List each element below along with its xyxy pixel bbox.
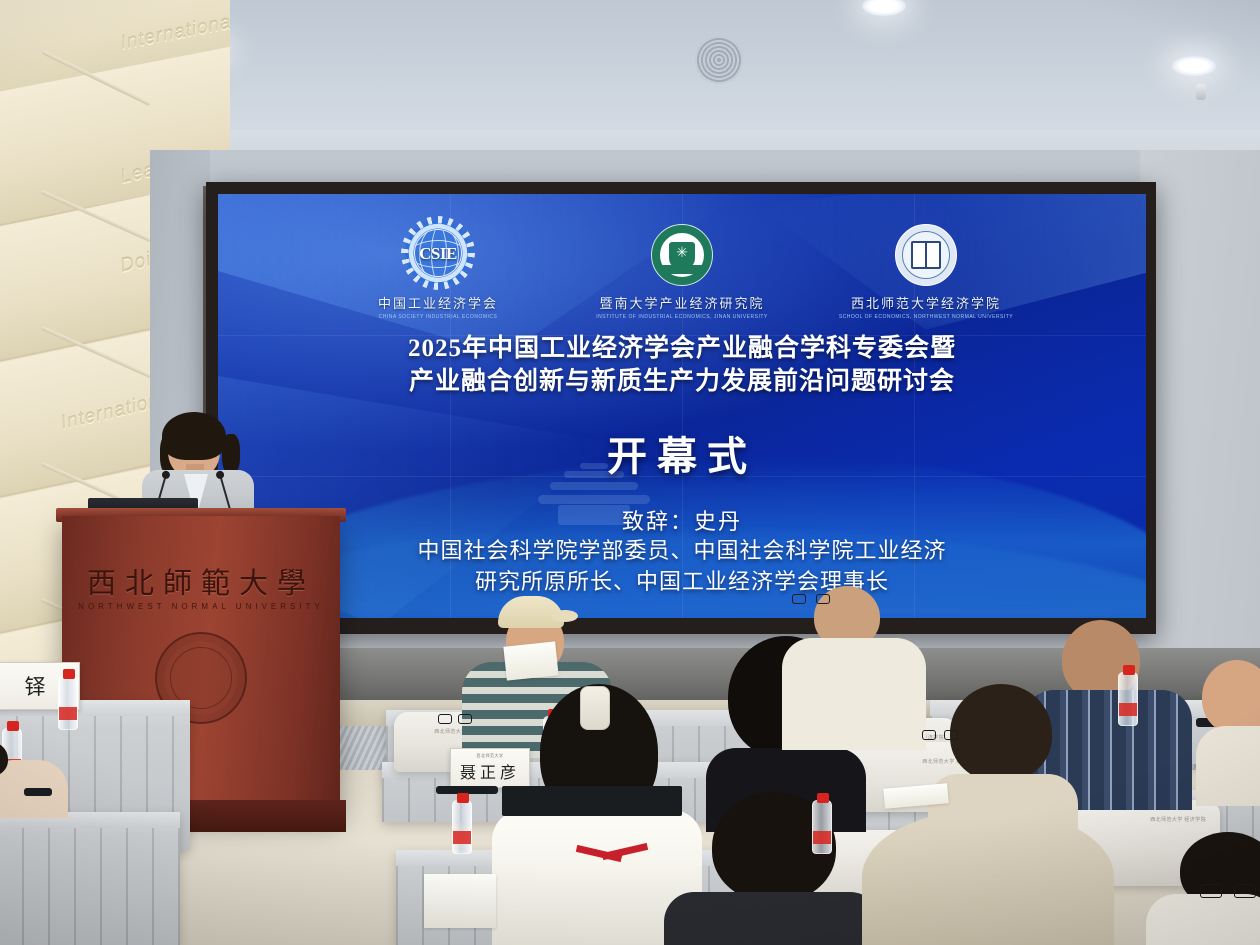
logo-label-cn: 西北师范大学经济学院 [851, 293, 1001, 312]
logo-label-en: INSTITUTE OF INDUSTRIAL ECONOMICS, JINAN… [596, 314, 767, 320]
air-vent-icon [695, 36, 743, 84]
audience-person-front [862, 786, 1114, 945]
laptop [502, 786, 682, 816]
paper-sheet [424, 874, 496, 928]
audience-person-front [664, 792, 880, 945]
eyeglasses-icon [922, 730, 962, 740]
downlight-icon [1172, 56, 1216, 76]
placard-name: 铎 [25, 671, 50, 701]
podium-base [186, 800, 346, 832]
eyeglasses-icon [438, 714, 474, 724]
water-bottle [452, 800, 472, 854]
eyeglasses-icon [1200, 884, 1260, 894]
jinan-university-green-seal-icon [651, 224, 713, 286]
track-lamp-icon [1196, 84, 1206, 100]
slide-affiliation-line1: 中国社会科学院学部委员、中国社会科学院工业经济 [417, 536, 946, 567]
audience-person [782, 586, 926, 746]
led-screen-frame: CSIE 中国工业经济学会 CHINA SOCIETY INDUSTRIAL E… [206, 182, 1156, 634]
logo-label-en: SCHOOL OF ECONOMICS, NORTHWEST NORMAL UN… [839, 314, 1013, 320]
logo-label-cn: 暨南大学产业经济研究院 [599, 293, 764, 312]
table-left-near [0, 812, 180, 945]
conference-photo: International Learning Doing Internation… [0, 0, 1260, 945]
logo-csie: CSIE 中国工业经济学会 CHINA SOCIETY INDUSTRIAL E… [348, 220, 528, 320]
eyeglasses-icon [792, 594, 836, 604]
logo-jinan: 暨南大学产业经济研究院 INSTITUTE OF INDUSTRIAL ECON… [592, 224, 772, 320]
logo-row: CSIE 中国工业经济学会 CHINA SOCIETY INDUSTRIAL E… [348, 220, 1016, 320]
slide-speaker: 致辞：史丹 [622, 504, 742, 536]
slide-headline: 开幕式 [607, 424, 757, 482]
slide-title-line1: 2025年中国工业经济学会产业融合学科专委会暨 [408, 332, 956, 365]
cap-icon [498, 596, 564, 628]
led-screen: CSIE 中国工业经济学会 CHINA SOCIETY INDUSTRIAL E… [218, 194, 1146, 618]
nwnu-book-seal-icon [895, 224, 957, 286]
water-bottle [58, 676, 78, 730]
logo-nwnu: 西北师范大学经济学院 SCHOOL OF ECONOMICS, NORTHWES… [836, 224, 1016, 320]
podium-name-cn: 西北師範大學 [62, 560, 340, 602]
csie-globe-gear-icon: CSIE [405, 220, 471, 286]
podium-name-en: NORTHWEST NORMAL UNIVERSITY [62, 602, 340, 611]
pen [24, 788, 52, 796]
right-wall [1140, 150, 1260, 670]
logo-label-cn: 中国工业经济学会 [378, 293, 498, 312]
presentation-slide: CSIE 中国工业经济学会 CHINA SOCIETY INDUSTRIAL E… [218, 194, 1146, 618]
logo-label-en: CHINA SOCIETY INDUSTRIAL ECONOMICS [379, 314, 498, 320]
audience-person [1196, 660, 1260, 790]
water-bottle [812, 800, 832, 854]
audience-person [0, 742, 74, 812]
slide-title-line2: 产业融合创新与新质生产力发展前沿问题研讨会 [409, 365, 955, 398]
water-bottle [1118, 672, 1138, 726]
hair-clip-icon [580, 686, 610, 730]
chair-logo-label: 西北师范大学 经济学院 [1150, 816, 1206, 823]
